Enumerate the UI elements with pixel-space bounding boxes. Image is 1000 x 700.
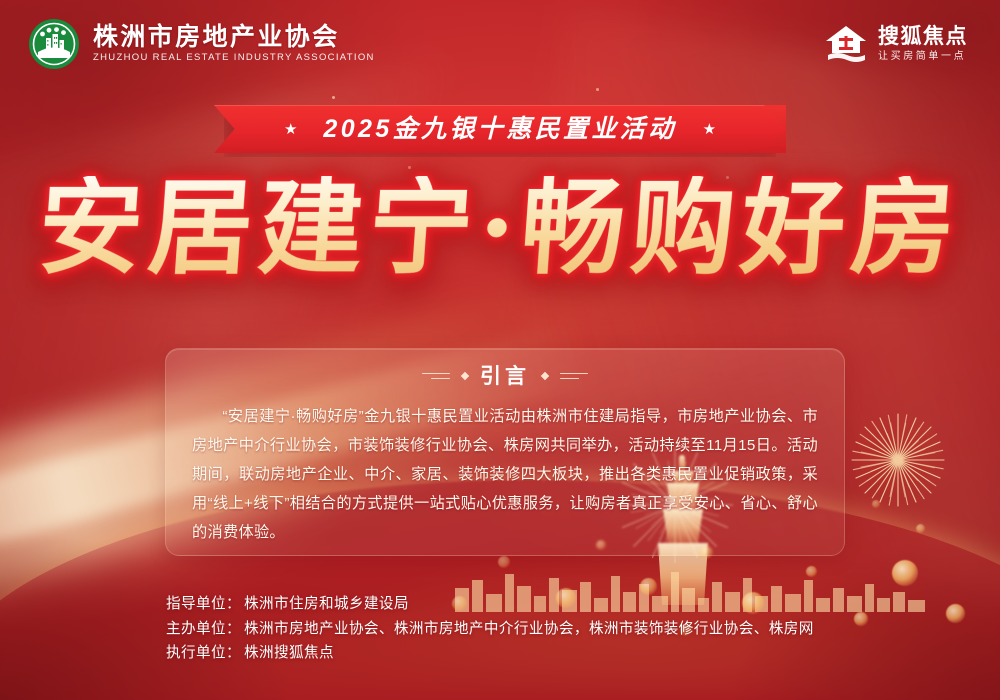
panel-paragraph: “安居建宁·畅购好房”金九银十惠民置业活动由株洲市住建局指导，市房地产业协会、市… [192,402,818,547]
panel-heading: 引言 [480,366,530,387]
diamond-icon [541,372,549,380]
credit-key: 指导单位： [166,596,241,612]
bokeh-particle [892,560,918,586]
main-title: 安居建宁·畅购好房 [0,176,1000,280]
credit-key: 执行单位： [166,645,241,661]
credit-row: 执行单位：株洲搜狐焦点 [166,646,814,661]
firework-burst-icon [838,400,958,520]
credit-key: 主办单位： [166,621,241,637]
event-ribbon: ★ 2025金九银十惠民置业活动 ★ [214,105,786,153]
bokeh-particle [872,500,880,508]
panel-heading-row: 引言 [166,362,844,390]
ribbon-title: 2025金九银十惠民置业活动 [323,117,676,142]
ribbon-body: ★ 2025金九银十惠民置业活动 ★ [214,105,786,153]
ornament-lines-right [560,373,588,380]
ornament-lines-left [422,373,450,380]
bokeh-particle [640,578,657,595]
sohu-focus-name: 搜狐焦点 [878,26,968,47]
credits-block: 指导单位：株洲市住房和城乡建设局 主办单位：株洲市房地产业协会、株洲市房地产中介… [166,597,814,661]
star-icon: ★ [284,122,297,137]
credit-value: 株洲搜狐焦点 [244,645,334,661]
association-name-en: ZHUZHOU REAL ESTATE INDUSTRY ASSOCIATION [93,53,375,63]
sparkle-dot [596,88,599,91]
credit-row: 主办单位：株洲市房地产业协会、株洲市房地产中介行业协会，株洲市装饰装修行业协会、… [166,622,814,637]
association-logo: 株洲市房地产业协会 ZHUZHOU REAL ESTATE INDUSTRY A… [28,18,375,70]
panel-body: “安居建宁·畅购好房”金九银十惠民置业活动由株洲市住建局指导，市房地产业协会、市… [192,402,818,547]
association-name-cn: 株洲市房地产业协会 [93,25,375,50]
promotional-banner: 株洲市房地产业协会 ZHUZHOU REAL ESTATE INDUSTRY A… [0,0,1000,700]
star-icon: ★ [703,122,716,137]
introduction-panel: 引言 “安居建宁·畅购好房”金九银十惠民置业活动由株洲市住建局指导，市房地产业协… [165,348,845,556]
bokeh-particle [806,566,817,577]
zhuzhou-association-emblem-icon [28,18,80,70]
credit-value: 株洲市住房和城乡建设局 [244,596,409,612]
diamond-icon [461,372,469,380]
bokeh-particle [916,524,925,533]
sohu-focus-tagline: 让买房简单一点 [878,52,968,62]
sohu-focus-logo: 搜狐焦点 让买房简单一点 [825,24,968,64]
bokeh-particle [498,556,510,568]
credit-row: 指导单位：株洲市住房和城乡建设局 [166,597,814,612]
bokeh-particle [946,604,965,623]
sohu-focus-house-icon [825,24,867,64]
credit-value: 株洲市房地产业协会、株洲市房地产中介行业协会，株洲市装饰装修行业协会、株房网 [244,621,814,637]
bokeh-particle [854,612,868,626]
sparkle-dot [332,96,335,99]
